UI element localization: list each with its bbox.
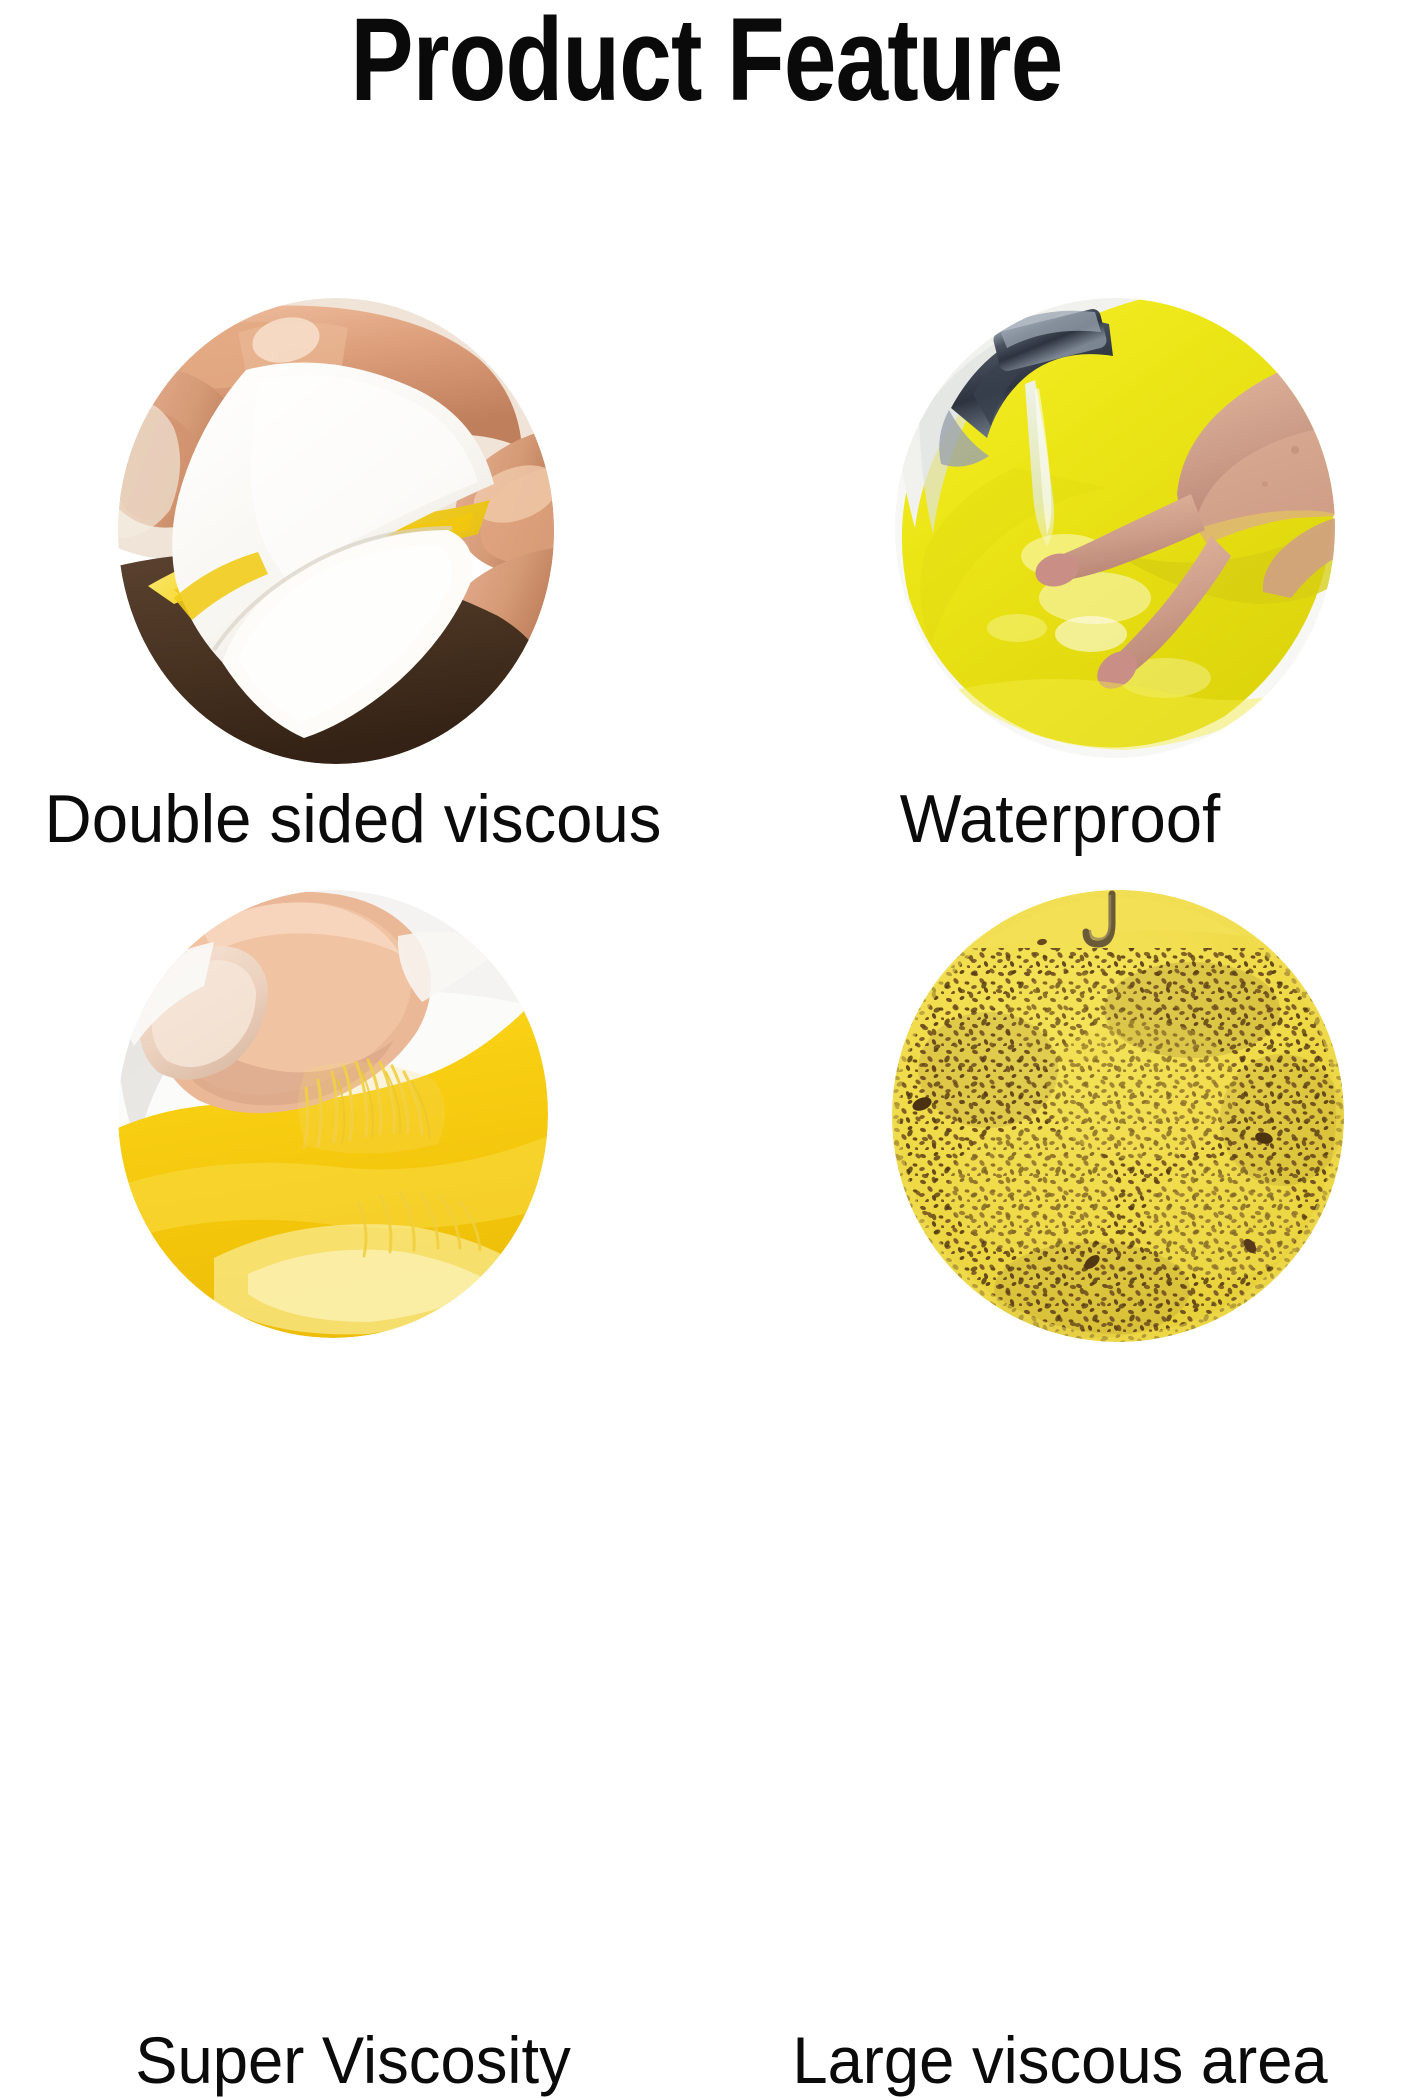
feature-caption-large-viscous-area: Large viscous area	[721, 2022, 1399, 2098]
page-title: Product Feature	[141, 0, 1271, 120]
yellow-trap-under-running-water-photo	[895, 298, 1335, 758]
feature-caption-waterproof: Waterproof	[721, 780, 1399, 858]
feature-cell-waterproof: Waterproof	[707, 280, 1413, 890]
feature-caption-super-viscosity: Super Viscosity	[14, 2022, 692, 2098]
feature-cell-double-sided-viscous: Double sided viscous	[0, 280, 706, 890]
trap-covered-in-insects-photo	[892, 890, 1344, 1342]
finger-pulling-glue-strings-photo	[118, 890, 548, 1338]
feature-cell-large-viscous-area: Large viscous area	[707, 890, 1413, 1500]
peeling-release-paper-photo	[118, 298, 554, 764]
feature-grid: Double sided viscous	[0, 280, 1413, 1500]
feature-caption-double-sided-viscous: Double sided viscous	[14, 780, 692, 858]
feature-cell-super-viscosity: Super Viscosity	[0, 890, 706, 1500]
